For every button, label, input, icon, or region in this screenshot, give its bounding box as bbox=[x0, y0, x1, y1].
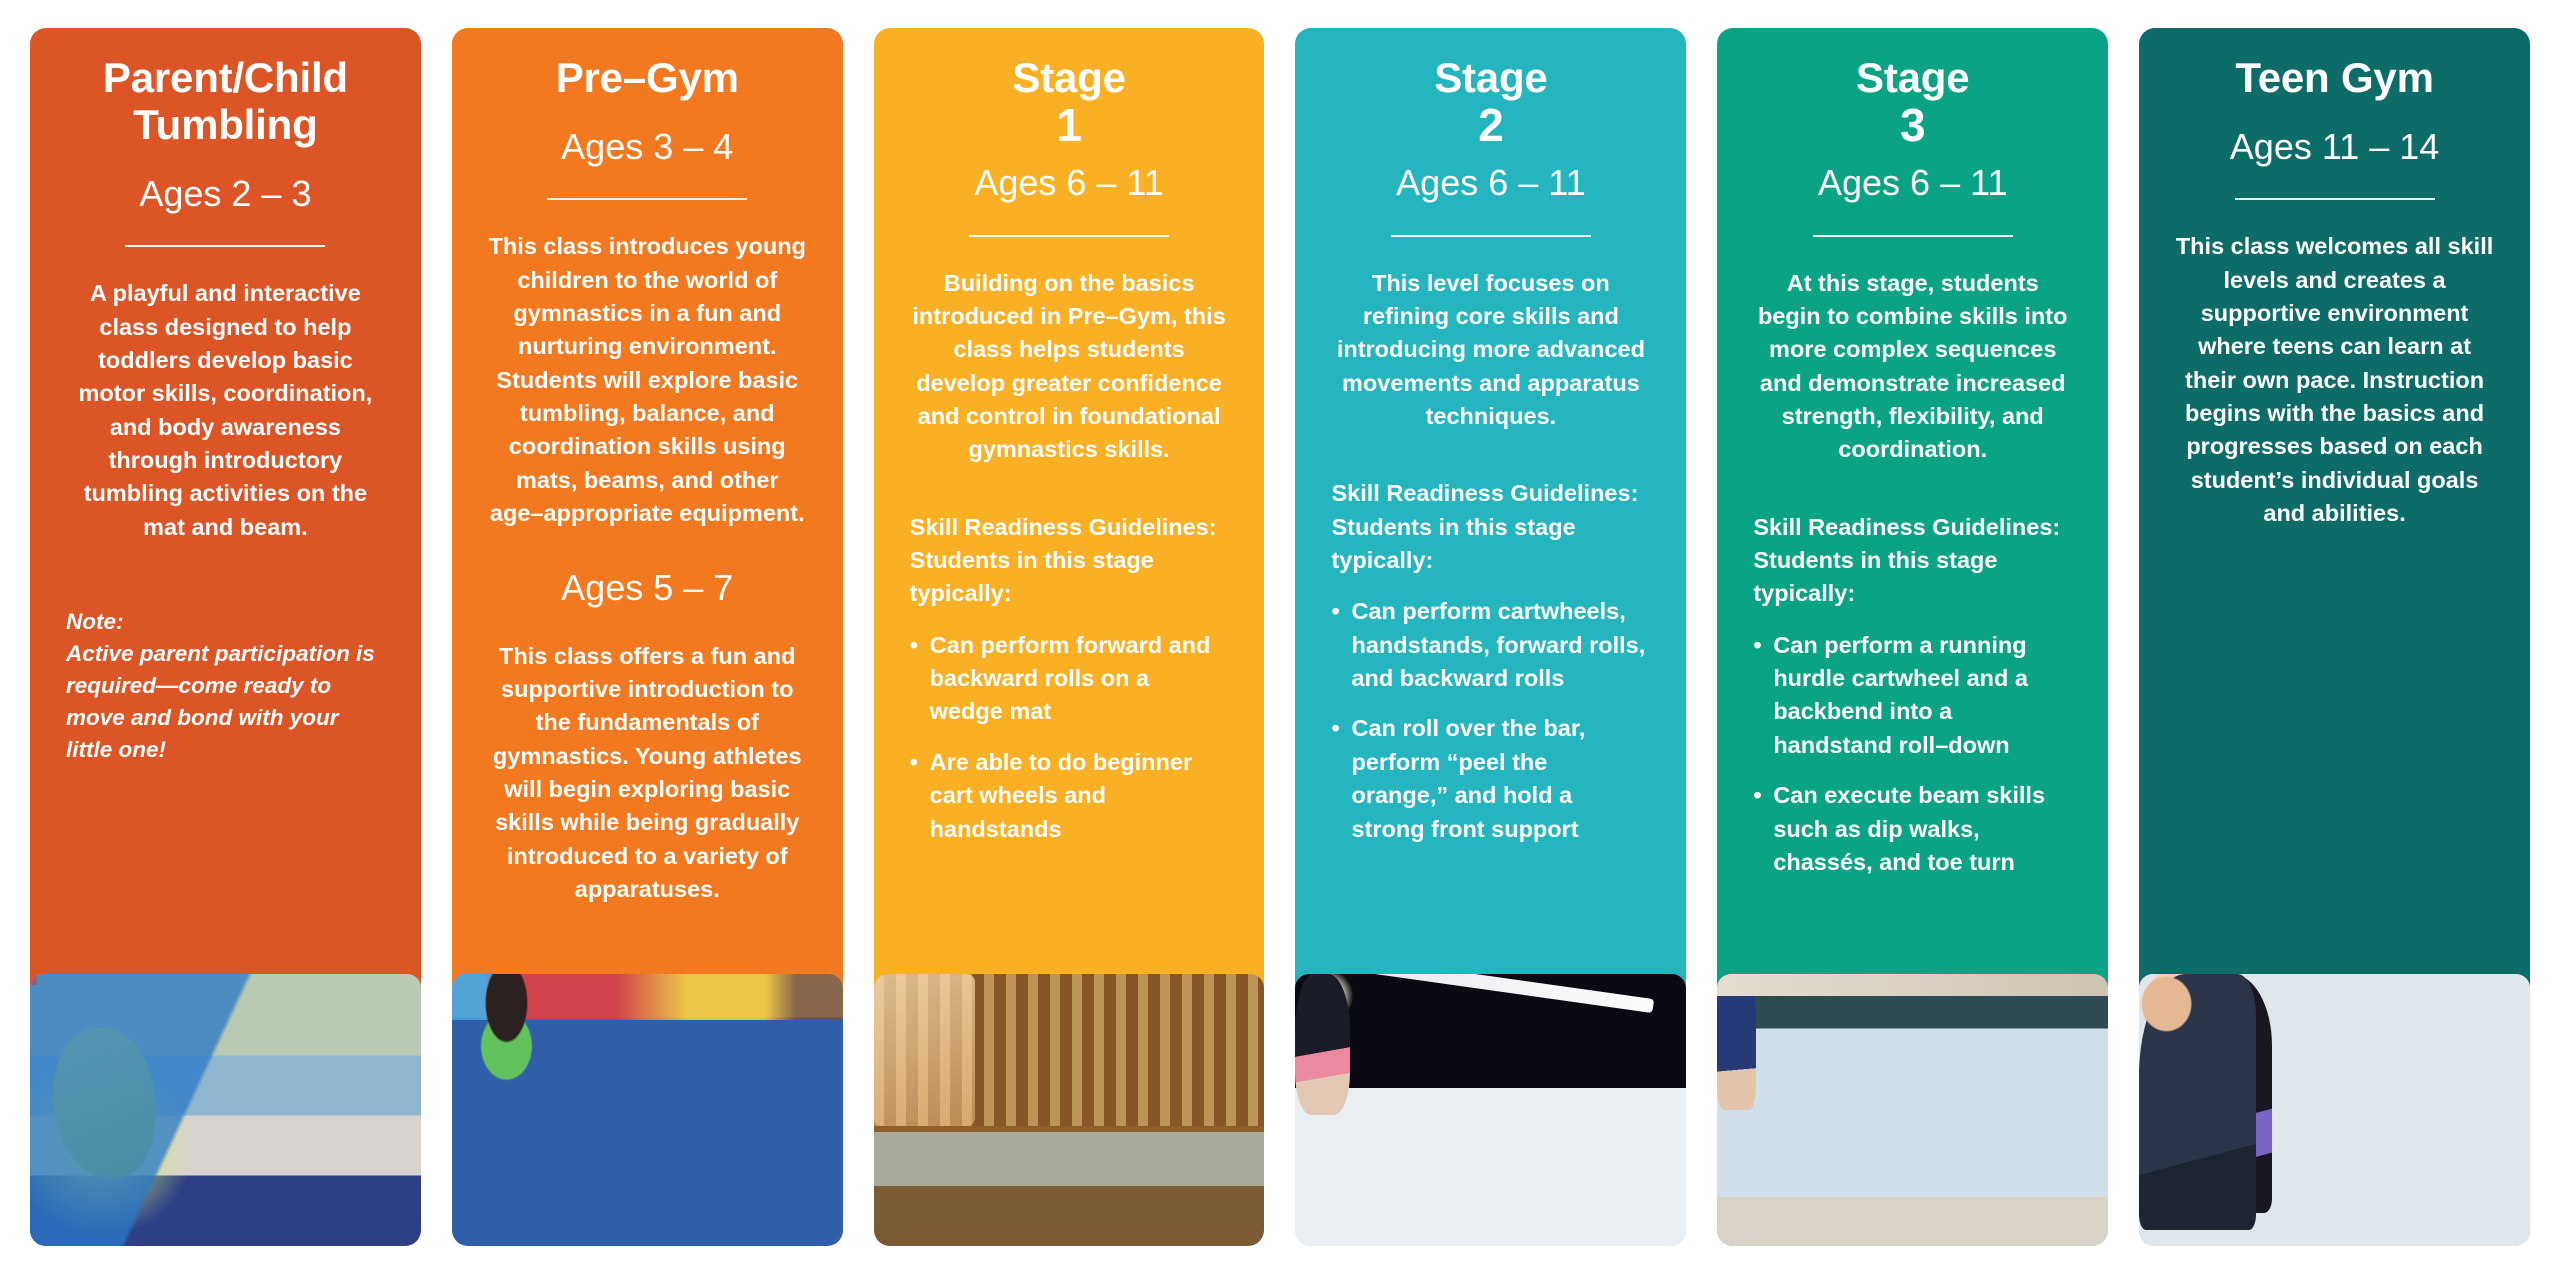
card-body: Parent/Child TumblingAges 2 – 3A playful… bbox=[30, 28, 421, 766]
age-range-secondary: Ages 5 – 7 bbox=[488, 566, 807, 609]
photo-detail-layer bbox=[452, 974, 561, 1105]
class-card-parent-child-tumbling[interactable]: Parent/Child TumblingAges 2 – 3A playful… bbox=[30, 28, 421, 1246]
card-title: Teen Gym bbox=[2175, 54, 2494, 101]
divider bbox=[1391, 235, 1591, 237]
photo-detail-layer bbox=[1295, 974, 1350, 1115]
skill-readiness-section: Skill Readiness Guidelines:Students in t… bbox=[910, 511, 1229, 846]
card-title: Stage3 bbox=[1753, 54, 2072, 149]
card-photo bbox=[874, 974, 1265, 1246]
card-body: Stage3Ages 6 – 11At this stage, students… bbox=[1717, 28, 2108, 896]
skill-list: Can perform a running hurdle cartwheel a… bbox=[1753, 629, 2072, 880]
class-card-stage-2[interactable]: Stage2Ages 6 – 11This level focuses on r… bbox=[1295, 28, 1686, 1246]
divider bbox=[547, 198, 747, 200]
card-photo bbox=[1717, 974, 2108, 1246]
card-body: Stage1Ages 6 – 11Building on the basics … bbox=[874, 28, 1265, 863]
skill-readiness-subheading: Students in this stage typically: bbox=[1331, 511, 1650, 578]
note-text: Active parent participation is required—… bbox=[66, 641, 375, 762]
card-photo bbox=[1295, 974, 1686, 1246]
age-range: Ages 6 – 11 bbox=[1331, 161, 1650, 204]
class-card-stage-1[interactable]: Stage1Ages 6 – 11Building on the basics … bbox=[874, 28, 1265, 1246]
card-note: Note:Active parent participation is requ… bbox=[66, 606, 385, 766]
skill-readiness-section: Skill Readiness Guidelines:Students in t… bbox=[1331, 477, 1650, 846]
skill-list: Can perform cartwheels, handstands, forw… bbox=[1331, 595, 1650, 846]
skill-list-item: Can perform forward and backward rolls o… bbox=[910, 629, 1229, 729]
skill-list-item: Can perform cartwheels, handstands, forw… bbox=[1331, 595, 1650, 695]
card-photo bbox=[452, 974, 843, 1246]
skill-list-item: Can execute beam skills such as dip walk… bbox=[1753, 779, 2072, 879]
skill-readiness-heading: Skill Readiness Guidelines: bbox=[1753, 511, 2072, 544]
age-range: Ages 6 – 11 bbox=[1753, 161, 2072, 204]
skill-readiness-subheading: Students in this stage typically: bbox=[910, 544, 1229, 611]
age-range: Ages 11 – 14 bbox=[2175, 125, 2494, 168]
divider bbox=[969, 235, 1169, 237]
card-description: This level focuses on refining core skil… bbox=[1331, 267, 1650, 434]
class-card-pre-gym[interactable]: Pre–GymAges 3 – 4This class introduces y… bbox=[452, 28, 843, 1246]
card-title: Pre–Gym bbox=[488, 54, 807, 101]
class-levels-board: Parent/Child TumblingAges 2 – 3A playful… bbox=[0, 0, 2560, 1280]
class-card-teen-gym[interactable]: Teen GymAges 11 – 14This class welcomes … bbox=[2139, 28, 2530, 1246]
skill-readiness-section: Skill Readiness Guidelines:Students in t… bbox=[1753, 511, 2072, 880]
divider bbox=[125, 245, 325, 247]
photo-detail-layer bbox=[2139, 974, 2194, 1034]
card-title: Stage2 bbox=[1331, 54, 1650, 149]
card-description: At this stage, students begin to combine… bbox=[1753, 267, 2072, 467]
photo-detail-layer bbox=[874, 974, 976, 1126]
photo-base-layer bbox=[1717, 974, 2108, 1246]
card-photo bbox=[30, 974, 421, 1246]
card-body: Stage2Ages 6 – 11This level focuses on r… bbox=[1295, 28, 1686, 863]
skill-list: Can perform forward and backward rolls o… bbox=[910, 629, 1229, 846]
card-description-secondary: This class offers a fun and supportive i… bbox=[488, 640, 807, 907]
stage-number: 2 bbox=[1331, 101, 1650, 149]
card-body: Pre–GymAges 3 – 4This class introduces y… bbox=[452, 28, 843, 907]
card-body: Teen GymAges 11 – 14This class welcomes … bbox=[2139, 28, 2530, 530]
divider bbox=[2235, 198, 2435, 200]
card-description: This class welcomes all skill levels and… bbox=[2175, 230, 2494, 530]
card-title: Stage1 bbox=[910, 54, 1229, 149]
card-title: Parent/Child Tumbling bbox=[66, 54, 385, 148]
skill-list-item: Are able to do beginner cart wheels and … bbox=[910, 746, 1229, 846]
divider bbox=[1813, 235, 2013, 237]
card-description: This class introduces young children to … bbox=[488, 230, 807, 530]
skill-readiness-subheading: Students in this stage typically: bbox=[1753, 544, 2072, 611]
skill-list-item: Can perform a running hurdle cartwheel a… bbox=[1753, 629, 2072, 762]
age-range: Ages 6 – 11 bbox=[910, 161, 1229, 204]
class-card-stage-3[interactable]: Stage3Ages 6 – 11At this stage, students… bbox=[1717, 28, 2108, 1246]
stage-number: 3 bbox=[1753, 101, 2072, 149]
card-photo bbox=[2139, 974, 2530, 1246]
skill-readiness-heading: Skill Readiness Guidelines: bbox=[910, 511, 1229, 544]
age-range: Ages 2 – 3 bbox=[66, 172, 385, 215]
skill-readiness-heading: Skill Readiness Guidelines: bbox=[1331, 477, 1650, 510]
skill-list-item: Can roll over the bar, perform “peel the… bbox=[1331, 712, 1650, 845]
card-description: Building on the basics introduced in Pre… bbox=[910, 267, 1229, 467]
stage-number: 1 bbox=[910, 101, 1229, 149]
photo-detail-layer bbox=[30, 974, 421, 985]
card-description: A playful and interactive class designed… bbox=[66, 277, 385, 544]
photo-detail-layer bbox=[1717, 974, 2108, 996]
note-label: Note: bbox=[66, 609, 124, 634]
photo-detail-layer bbox=[30, 974, 421, 1246]
age-range: Ages 3 – 4 bbox=[488, 125, 807, 168]
